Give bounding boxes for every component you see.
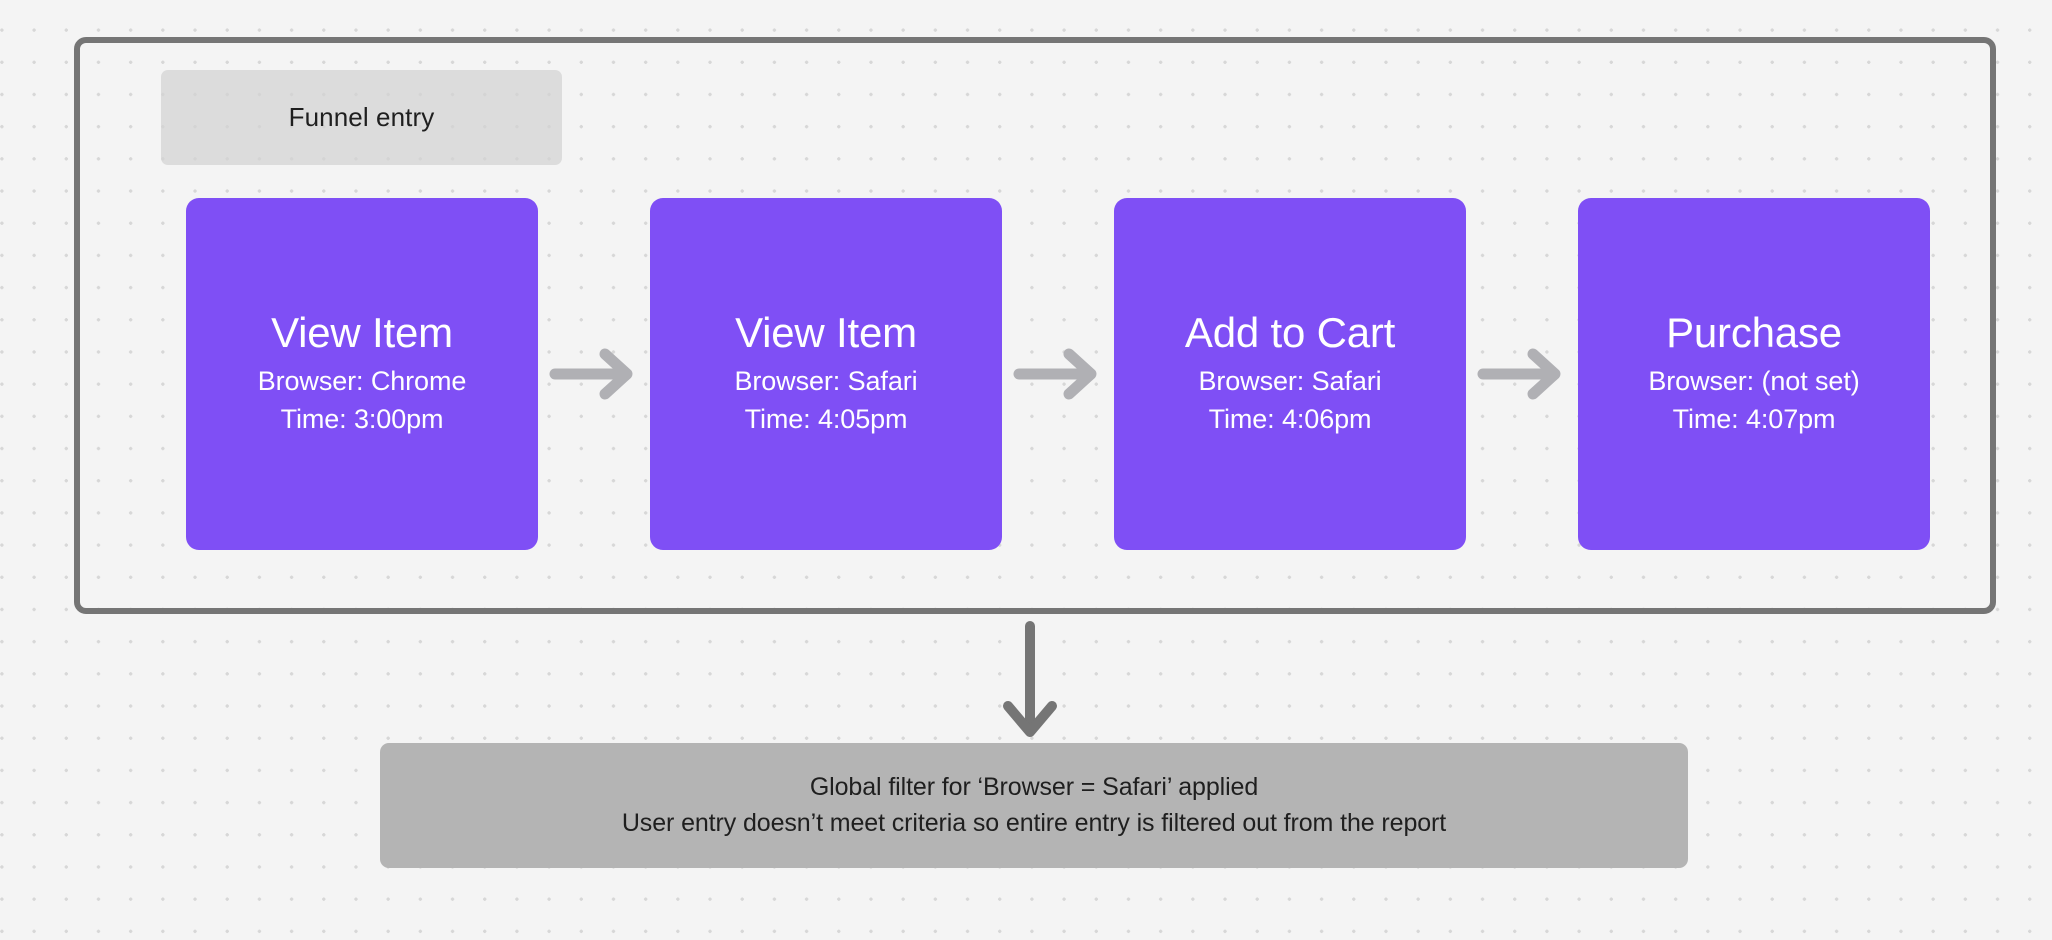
funnel-entry-chip: Funnel entry: [161, 70, 562, 165]
step-title: Add to Cart: [1185, 310, 1395, 355]
arrow-down-icon: [1000, 620, 1060, 740]
filter-note-line-2: User entry doesn’t meet criteria so enti…: [622, 806, 1446, 842]
funnel-step-card-1[interactable]: View Item Browser: Chrome Time: 3:00pm: [186, 198, 538, 550]
step-title: Purchase: [1666, 310, 1842, 355]
step-browser: Browser: Safari: [734, 363, 917, 400]
step-time: Time: 4:06pm: [1209, 401, 1372, 438]
funnel-step-card-2[interactable]: View Item Browser: Safari Time: 4:05pm: [650, 198, 1002, 550]
step-time: Time: 3:00pm: [281, 401, 444, 438]
filter-note-line-1: Global filter for ‘Browser = Safari’ app…: [810, 770, 1258, 806]
arrow-right-icon-2: [1002, 346, 1114, 402]
funnel-steps-row: View Item Browser: Chrome Time: 3:00pm V…: [186, 198, 1930, 550]
funnel-step-card-3[interactable]: Add to Cart Browser: Safari Time: 4:06pm: [1114, 198, 1466, 550]
filter-note-callout: Global filter for ‘Browser = Safari’ app…: [380, 743, 1688, 868]
diagram-canvas: Funnel entry View Item Browser: Chrome T…: [0, 0, 2052, 940]
step-title: View Item: [271, 310, 453, 355]
step-title: View Item: [735, 310, 917, 355]
step-browser: Browser: Safari: [1198, 363, 1381, 400]
step-browser: Browser: (not set): [1648, 363, 1859, 400]
step-time: Time: 4:07pm: [1673, 401, 1836, 438]
arrow-right-icon-3: [1466, 346, 1578, 402]
step-browser: Browser: Chrome: [258, 363, 467, 400]
funnel-entry-label-text: Funnel entry: [289, 102, 435, 133]
arrow-right-icon-1: [538, 346, 650, 402]
step-time: Time: 4:05pm: [745, 401, 908, 438]
funnel-step-card-4[interactable]: Purchase Browser: (not set) Time: 4:07pm: [1578, 198, 1930, 550]
